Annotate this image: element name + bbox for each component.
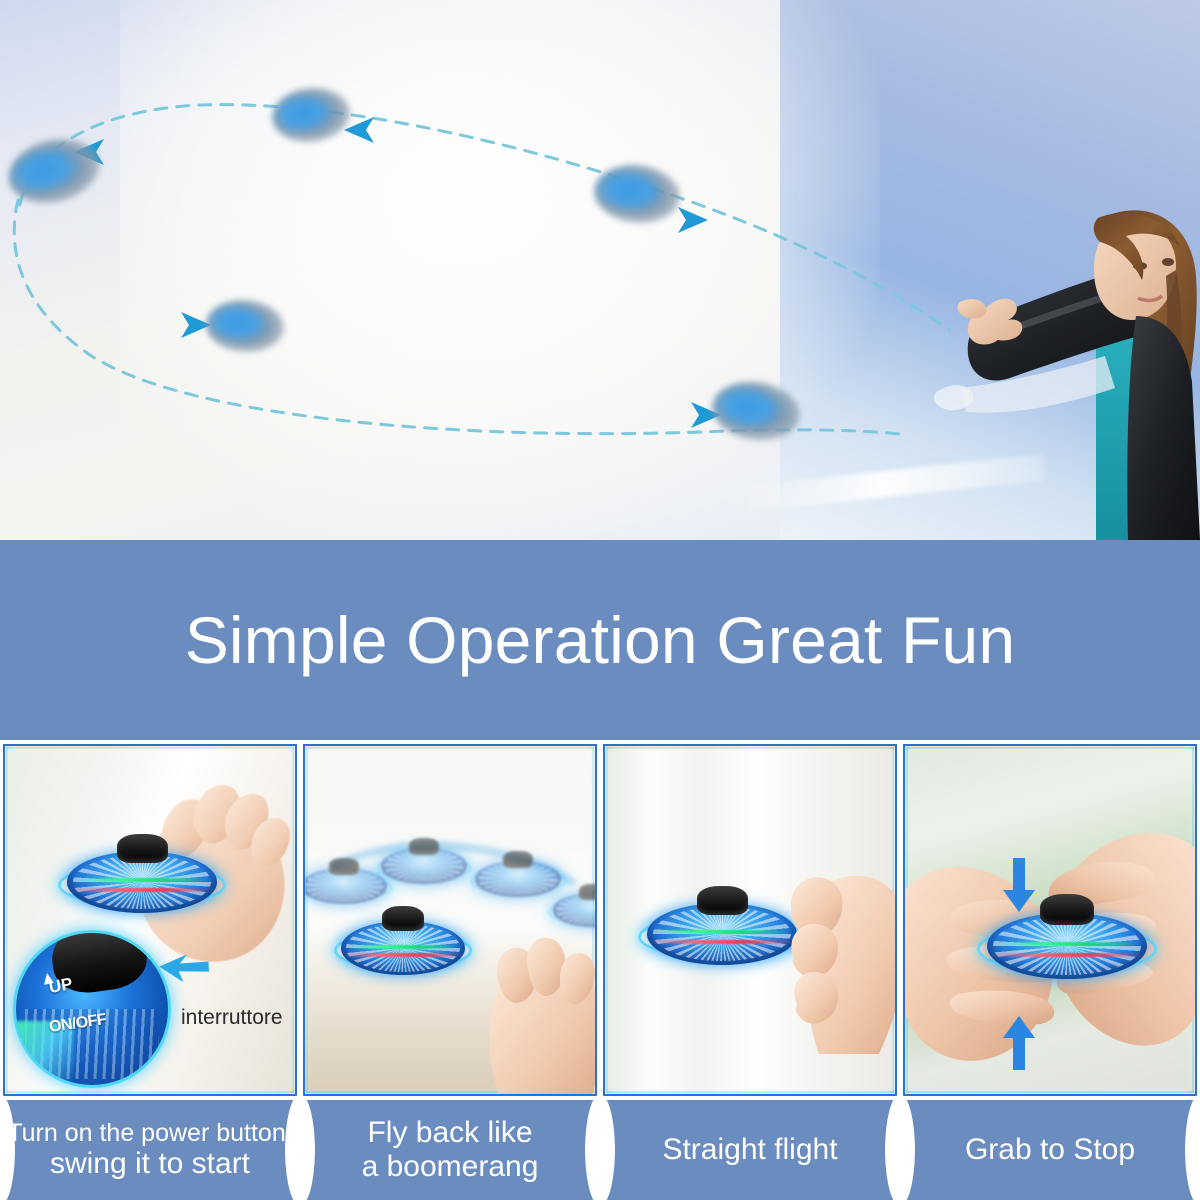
headline-banner: Simple Operation Great Fun <box>0 540 1200 740</box>
feature-panel-straight-flight[interactable] <box>600 740 900 1100</box>
arrow-down-icon <box>1001 858 1037 914</box>
flying-orb-toy <box>341 906 465 990</box>
flying-orb-ghost <box>553 884 595 936</box>
caption-line-1: Fly back like <box>367 1116 532 1150</box>
caption-line-2: swing it to start <box>50 1147 250 1181</box>
hand-graphic <box>783 864 895 1054</box>
direction-arrow-icon <box>672 200 712 240</box>
caption-line-1: Grab to Stop <box>965 1133 1135 1167</box>
caption-line-1: Turn on the power button, <box>7 1119 292 1147</box>
caption-boomerang: Fly back like a boomerang <box>300 1100 600 1200</box>
product-feature-image: Simple Operation Great Fun <box>0 0 1200 1200</box>
panel-photo <box>605 746 895 1094</box>
caption-line-2: a boomerang <box>362 1150 539 1184</box>
woman-figure <box>900 120 1200 540</box>
panel-photo <box>305 746 595 1094</box>
hand-graphic <box>470 934 595 1094</box>
flying-orb-ghost <box>475 851 561 907</box>
flying-orb-ghost <box>381 838 467 894</box>
flying-orb-toy <box>647 886 797 982</box>
caption-straight-flight: Straight flight <box>600 1100 900 1200</box>
switch-magnifier-inset: UP ON/OFF <box>13 930 171 1088</box>
feature-panel-strip: UP ON/OFF interruttore <box>0 740 1200 1100</box>
panel-photo: UP ON/OFF interruttore <box>5 746 295 1094</box>
caption-power-button: Turn on the power button, swing it to st… <box>0 1100 300 1200</box>
page-title: Simple Operation Great Fun <box>185 602 1016 678</box>
flying-orb-toy <box>67 834 217 930</box>
hero-section <box>0 0 1200 540</box>
feature-panel-power-button[interactable]: UP ON/OFF interruttore <box>0 740 300 1100</box>
caption-grab-to-stop: Grab to Stop <box>900 1100 1200 1200</box>
feature-panel-boomerang[interactable] <box>300 740 600 1100</box>
caption-line-1: Straight flight <box>662 1133 837 1167</box>
switch-up-label: UP <box>48 974 75 998</box>
panel-photo <box>905 746 1195 1094</box>
feature-panel-grab-to-stop[interactable] <box>900 740 1200 1100</box>
arrow-up-icon <box>1001 1014 1037 1070</box>
caption-strip: Turn on the power button, swing it to st… <box>0 1100 1200 1200</box>
callout-arrow-icon <box>155 952 211 998</box>
callout-label: interruttore <box>181 1006 283 1030</box>
